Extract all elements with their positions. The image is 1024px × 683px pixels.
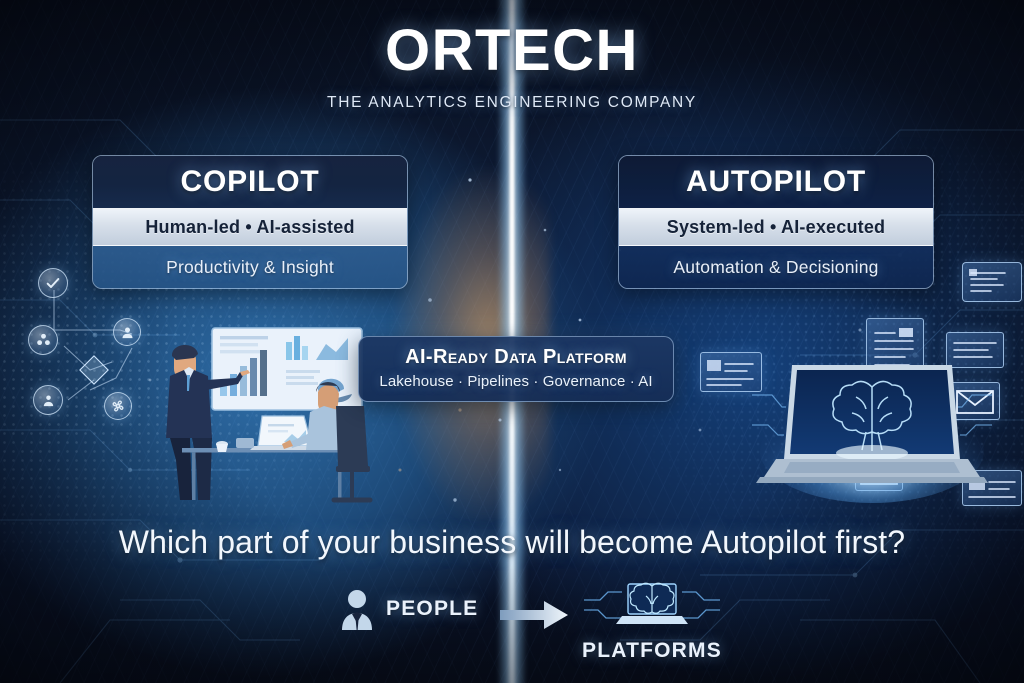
flow-step-platforms: PLATFORMS xyxy=(577,576,727,663)
brand-tagline: THE ANALYTICS ENGINEERING COMPANY xyxy=(0,94,1024,112)
laptop-brain-icon xyxy=(582,576,722,630)
platform-bar[interactable]: AI-Ready Data Platform Lakehouse · Pipel… xyxy=(358,336,674,402)
pillar-title: COPILOT xyxy=(93,156,407,208)
platform-capabilities: Lakehouse · Pipelines · Governance · AI xyxy=(367,373,665,390)
pillar-card-copilot[interactable]: COPILOT Human-led • AI-assisted Producti… xyxy=(92,155,408,289)
brand-title: ORTECH xyxy=(0,22,1024,80)
infographic-canvas: ORTECH THE ANALYTICS ENGINEERING COMPANY… xyxy=(0,0,1024,683)
call-to-action-question: Which part of your business will become … xyxy=(0,524,1024,561)
chat-bubble-card-icon xyxy=(962,262,1022,302)
header: ORTECH THE ANALYTICS ENGINEERING COMPANY xyxy=(0,22,1024,112)
pillar-footer: Automation & Decisioning xyxy=(619,246,933,288)
pillar-footer: Productivity & Insight xyxy=(93,246,407,288)
flow-platforms-label: PLATFORMS xyxy=(577,639,727,663)
pillar-subtitle: System-led • AI-executed xyxy=(619,208,933,246)
flow-step-people: PEOPLE xyxy=(338,588,478,630)
ai-laptop-illustration xyxy=(752,355,992,510)
pillar-subtitle: Human-led • AI-assisted xyxy=(93,208,407,246)
person-business-icon xyxy=(338,588,376,630)
pillar-card-autopilot[interactable]: AUTOPILOT System-led • AI-executed Autom… xyxy=(618,155,934,289)
transformation-flow: PEOPLE PLATFORMS xyxy=(0,586,1024,666)
platform-title: AI-Ready Data Platform xyxy=(367,346,665,369)
flow-people-label: PEOPLE xyxy=(386,597,478,621)
arrow-right-icon xyxy=(500,598,570,632)
pillar-title: AUTOPILOT xyxy=(619,156,933,208)
